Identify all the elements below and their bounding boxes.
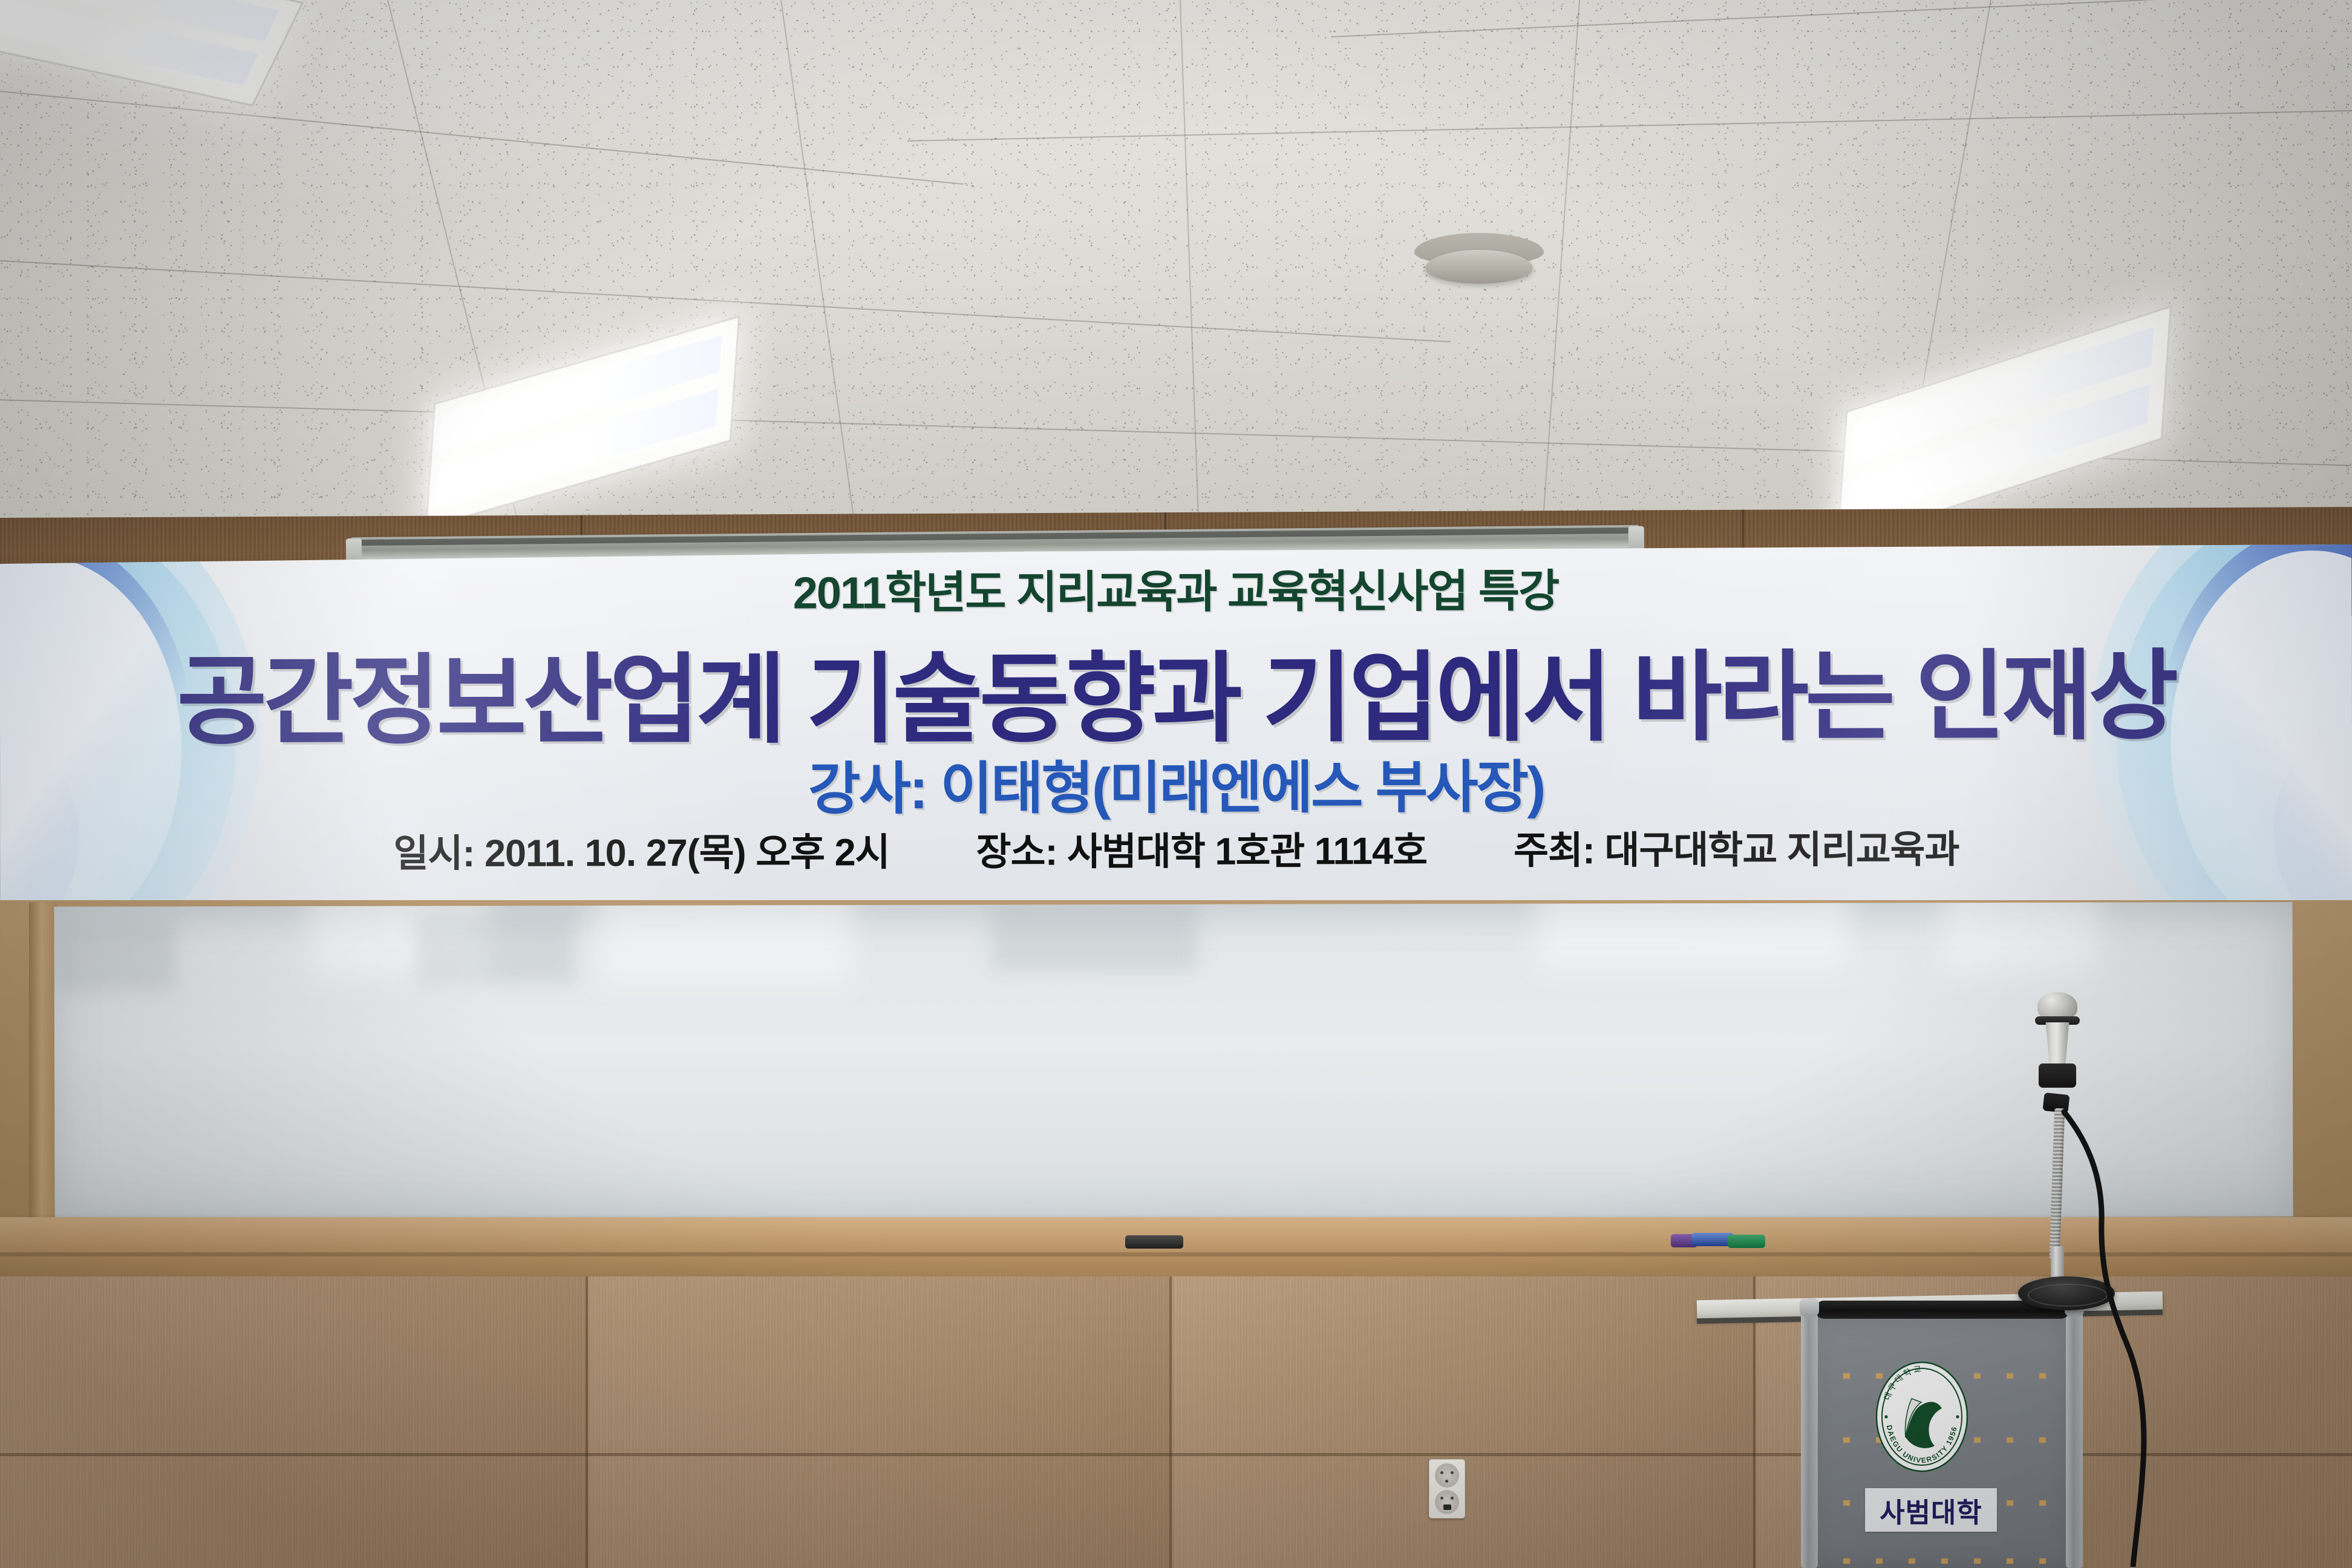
outlet-pin <box>1440 1471 1443 1474</box>
whiteboard-smudge <box>417 912 574 985</box>
smoke-detector-lower <box>1425 250 1533 284</box>
whiteboard-smudge <box>54 918 175 991</box>
outlet-pin <box>1443 1504 1451 1510</box>
tray-lip <box>0 1252 2352 1256</box>
whiteboard-glare <box>1536 902 1851 970</box>
podium-rail-left <box>1801 1301 1818 1568</box>
wood-panel-seam <box>586 1276 588 1568</box>
podium-name-plate: 사범대학 <box>1865 1488 1997 1532</box>
podium: 대구대학교 DAEGU UNIVERSITY 1956 사범대학 <box>1788 1282 2114 1568</box>
podium-dot-row <box>1811 1558 2072 1564</box>
podium-rail-right <box>2066 1301 2083 1568</box>
lecture-hall-photo: 2011학년도 지리교육과 교육혁신사업 특강 공간정보산업계 기술동향과 기업… <box>0 0 2352 1568</box>
wood-panel-seam <box>1169 1276 1172 1568</box>
banner-datetime: 일시: 2011. 10. 27(목) 오후 2시 <box>393 822 889 878</box>
banner-subtitle: 2011학년도 지리교육과 교육혁신사업 특강 <box>0 553 2352 624</box>
whiteboard[interactable] <box>54 902 2293 1221</box>
microphone-base-ring <box>2028 1284 2108 1307</box>
wood-panel <box>590 1276 1171 1568</box>
wall-outlet[interactable] <box>1429 1459 1465 1518</box>
whiteboard-glare <box>1941 902 2099 975</box>
daegu-university-emblem: 대구대학교 DAEGU UNIVERSITY 1956 <box>1874 1360 1970 1474</box>
podium-knob-left <box>1800 1298 1819 1316</box>
outlet-pin <box>1451 1497 1454 1500</box>
outlet-pin <box>1445 1480 1448 1483</box>
whiteboard-smudge <box>991 904 1197 972</box>
banner-host: 주최: 대구대학교 지리교육과 <box>1514 819 1959 875</box>
podium-plate-label: 사범대학 <box>1880 1491 1982 1530</box>
emblem-svg: 대구대학교 DAEGU UNIVERSITY 1956 <box>1874 1360 1970 1474</box>
wood-panel <box>0 1276 587 1568</box>
outlet-socket-top[interactable] <box>1435 1463 1459 1488</box>
outlet-socket-bottom[interactable] <box>1435 1490 1459 1514</box>
microphone-clip <box>2039 1063 2076 1088</box>
banner-sheet: 2011학년도 지리교육과 교육혁신사업 특강 공간정보산업계 기술동향과 기업… <box>0 544 2352 913</box>
green-marker[interactable] <box>1728 1235 1765 1248</box>
event-banner: 2011학년도 지리교육과 교육혁신사업 특강 공간정보산업계 기술동향과 기업… <box>0 544 2352 913</box>
microphone-gooseneck <box>2050 1108 2065 1259</box>
microphone[interactable] <box>2014 992 2123 1313</box>
black-marker[interactable] <box>1125 1235 1183 1249</box>
outlet-pin <box>1451 1471 1454 1474</box>
banner-speaker: 강사: 이태형(미래엔에스 부사장) <box>0 739 2352 828</box>
banner-place: 장소: 사범대학 1호관 1114호 <box>976 820 1427 877</box>
ceiling <box>0 0 2352 544</box>
whiteboard-left-edge <box>29 903 57 1229</box>
whiteboard-glare <box>598 902 852 984</box>
outlet-pin <box>1440 1497 1443 1500</box>
wood-panel <box>1174 1276 1754 1568</box>
smoke-detector-icon <box>1410 233 1549 286</box>
banner-info-row: 일시: 2011. 10. 27(목) 오후 2시 장소: 사범대학 1호관 1… <box>0 818 2352 879</box>
marker-tray <box>0 1217 2352 1284</box>
